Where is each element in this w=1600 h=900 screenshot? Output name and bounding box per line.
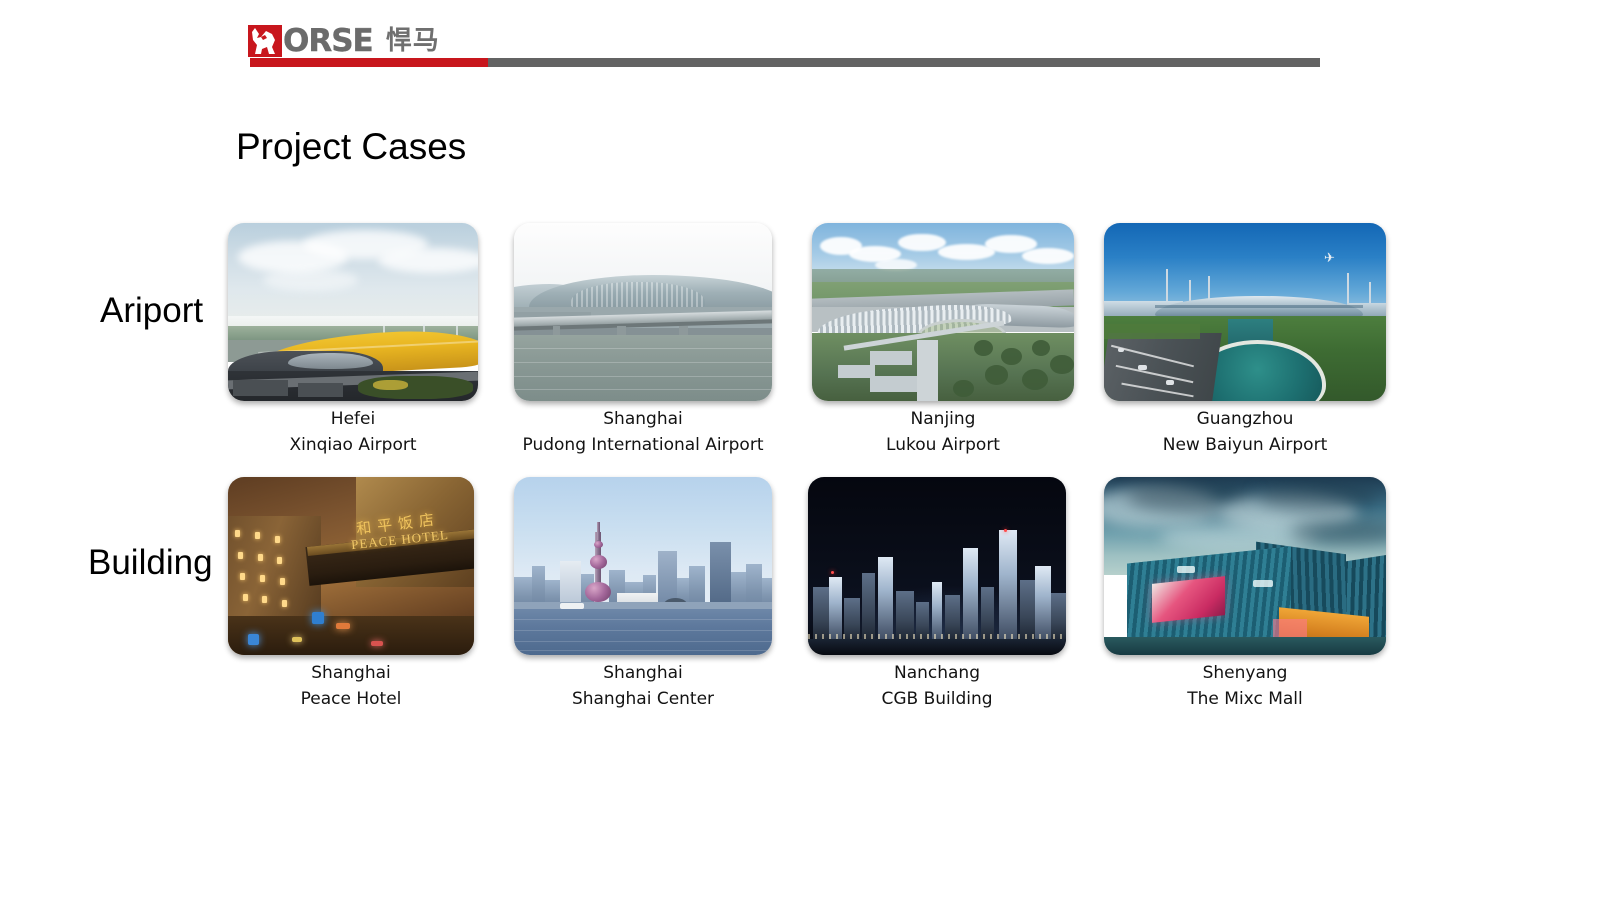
caption-line1: Hefei	[331, 409, 375, 429]
guangzhou-baiyun-airport-photo: ✈	[1104, 223, 1386, 401]
shenyang-mixc-mall-photo	[1104, 477, 1386, 655]
logo-wordmark: ORSE	[283, 25, 373, 57]
shanghai-center-photo	[514, 477, 772, 655]
card-caption: Guangzhou New Baiyun Airport	[1104, 406, 1386, 458]
caption-line2: Peace Hotel	[228, 686, 474, 712]
card-caption: Shanghai Pudong International Airport	[514, 406, 772, 458]
card-caption: Nanjing Lukou Airport	[812, 406, 1074, 458]
slide: ORSE 悍马 Project Cases Ariport Building	[0, 0, 1600, 900]
row-label-building: Building	[88, 543, 213, 583]
header-rule-red	[250, 58, 488, 67]
caption-line1: Shenyang	[1203, 663, 1288, 683]
caption-line1: Shanghai	[603, 409, 682, 429]
caption-line2: Shanghai Center	[514, 686, 772, 712]
nanjing-lukou-airport-photo	[812, 223, 1074, 401]
card-caption: Nanchang CGB Building	[808, 660, 1066, 712]
shanghai-peace-hotel-photo: 和平饭店 PEACE HOTEL	[228, 477, 474, 655]
caption-line1: Nanchang	[894, 663, 980, 683]
brand-logo: ORSE 悍马	[248, 24, 440, 58]
shanghai-pudong-airport-photo	[514, 223, 772, 401]
caption-line1: Nanjing	[911, 409, 976, 429]
logo-wordmark-chinese: 悍马	[386, 25, 440, 57]
caption-line2: Xinqiao Airport	[228, 432, 478, 458]
caption-line1: Shanghai	[603, 663, 682, 683]
page-title: Project Cases	[236, 126, 466, 168]
caption-line2: CGB Building	[808, 686, 1066, 712]
row-label-airport: Ariport	[100, 291, 203, 331]
caption-line2: New Baiyun Airport	[1104, 432, 1386, 458]
card-caption: Shanghai Peace Hotel	[228, 660, 474, 712]
caption-line2: The Mixc Mall	[1104, 686, 1386, 712]
caption-line2: Lukou Airport	[812, 432, 1074, 458]
horse-head-icon	[248, 25, 282, 57]
card-caption: Shanghai Shanghai Center	[514, 660, 772, 712]
caption-line1: Guangzhou	[1197, 409, 1294, 429]
header-rule-gray	[488, 58, 1320, 67]
caption-line2: Pudong International Airport	[514, 432, 772, 458]
nanchang-cgb-building-photo	[808, 477, 1066, 655]
hefei-xinqiao-airport-photo	[228, 223, 478, 401]
card-caption: Hefei Xinqiao Airport	[228, 406, 478, 458]
card-caption: Shenyang The Mixc Mall	[1104, 660, 1386, 712]
caption-line1: Shanghai	[311, 663, 390, 683]
